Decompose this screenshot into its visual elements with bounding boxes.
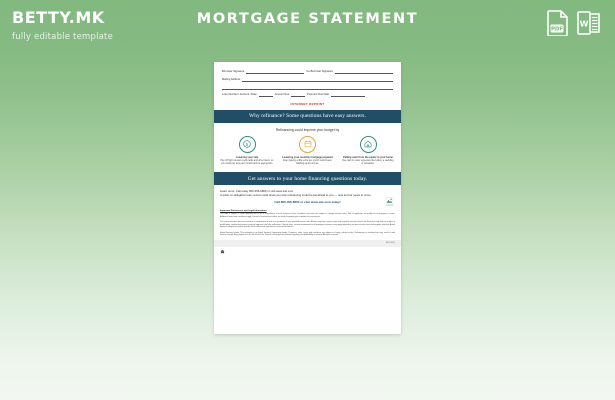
benefit-title: Lowering your monthly mortgage payment <box>281 156 335 159</box>
document-page-preview[interactable]: Borrower Signature Co-Borrower Signature… <box>214 62 401 334</box>
signature-line[interactable] <box>246 71 304 74</box>
fineprint-block: Important Disclosures and Legal Informat… <box>214 207 401 237</box>
form-fields-block: Borrower Signature Co-Borrower Signature… <box>214 62 401 106</box>
benefit-text: Even paying a little extra per month cou… <box>281 160 335 166</box>
fineprint-heading: Important Disclosures and Legal Informat… <box>220 210 395 212</box>
field-label: Amount Due <box>275 94 289 97</box>
document-footer: REV 09/21 <box>214 240 401 247</box>
form-row: Loan Number / Account / Date Amount Due … <box>222 94 393 97</box>
benefit-text: Pay off high interest credit cards and o… <box>220 160 274 166</box>
screenshot-root: BETTY.MK fully editable template MORTGAG… <box>0 0 615 400</box>
document-revision-code: REV 09/21 <box>386 242 395 244</box>
benefit-text: Use cash to cover expenses like tuition,… <box>341 160 395 166</box>
page-header: BETTY.MK fully editable template MORTGAG… <box>0 0 615 48</box>
brand-tagline: fully editable template <box>12 32 212 42</box>
equal-housing-lender-icon <box>220 241 225 246</box>
benefit-title: Lowering your rate <box>220 156 274 159</box>
contact-line-secondary: A quick no-obligation loan review could … <box>220 193 395 197</box>
refinance-banner: Why refinance? Some questions have easy … <box>214 110 401 123</box>
fineprint-paragraph: This offer is subject to credit approval… <box>220 213 395 219</box>
svg-text:W: W <box>580 20 589 29</box>
due-date-line[interactable] <box>331 94 365 97</box>
lender-logo-icon <box>385 194 394 204</box>
form-row <box>222 86 393 89</box>
form-row: Borrower Signature Co-Borrower Signature <box>222 71 393 74</box>
pdf-file-icon[interactable]: PDF <box>547 10 569 41</box>
page-title: MORTGAGE STATEMENT <box>0 11 615 27</box>
address-line[interactable] <box>242 79 393 82</box>
svg-text:PDF: PDF <box>551 27 563 33</box>
contact-block: Learn more. Call today 800-456-6800 or v… <box>214 185 401 207</box>
internet-reprint-notice: INTERNET REPRINT <box>222 102 393 106</box>
calendar-clock-circle-icon <box>299 136 316 153</box>
field-label: Borrower Signature <box>222 71 244 74</box>
benefits-subheading: Refinancing could improve your budget by <box>214 123 401 136</box>
format-icon-group: PDF W <box>547 10 601 41</box>
field-label: Loan Number / Account / Date <box>222 94 257 97</box>
signature-line[interactable] <box>335 71 393 74</box>
page-blank-area <box>214 247 401 309</box>
benefits-row: $ Lowering your rate Pay off high intere… <box>214 136 401 173</box>
benefit-item: Pulling cash from the equity in your hom… <box>341 136 395 167</box>
get-answers-banner: Get answers to your home financing quest… <box>214 172 401 185</box>
loan-number-line[interactable] <box>259 94 273 97</box>
benefit-title: Pulling cash from the equity in your hom… <box>341 156 395 159</box>
amount-due-line[interactable] <box>291 94 305 97</box>
benefit-item: Lowering your monthly mortgage payment E… <box>281 136 335 167</box>
house-equity-circle-icon <box>360 136 377 153</box>
field-label: Payment Due Date <box>307 94 329 97</box>
fineprint-paragraph: Equal Housing Lender. This institution i… <box>220 232 395 238</box>
dollar-coin-circle-icon: $ <box>239 136 256 153</box>
benefit-item: $ Lowering your rate Pay off high intere… <box>220 136 274 167</box>
word-file-icon[interactable]: W <box>577 10 601 41</box>
form-row: Mailing Address <box>222 79 393 82</box>
field-label: Co-Borrower Signature <box>306 71 333 74</box>
address-line-2[interactable] <box>222 86 393 89</box>
field-label: Mailing Address <box>222 79 240 82</box>
contact-call-to-action: Call 800-456-6800 or visit www.site.com … <box>220 200 395 204</box>
svg-text:$: $ <box>246 142 249 148</box>
fineprint-paragraph: This communication does not constitute a… <box>220 221 395 229</box>
